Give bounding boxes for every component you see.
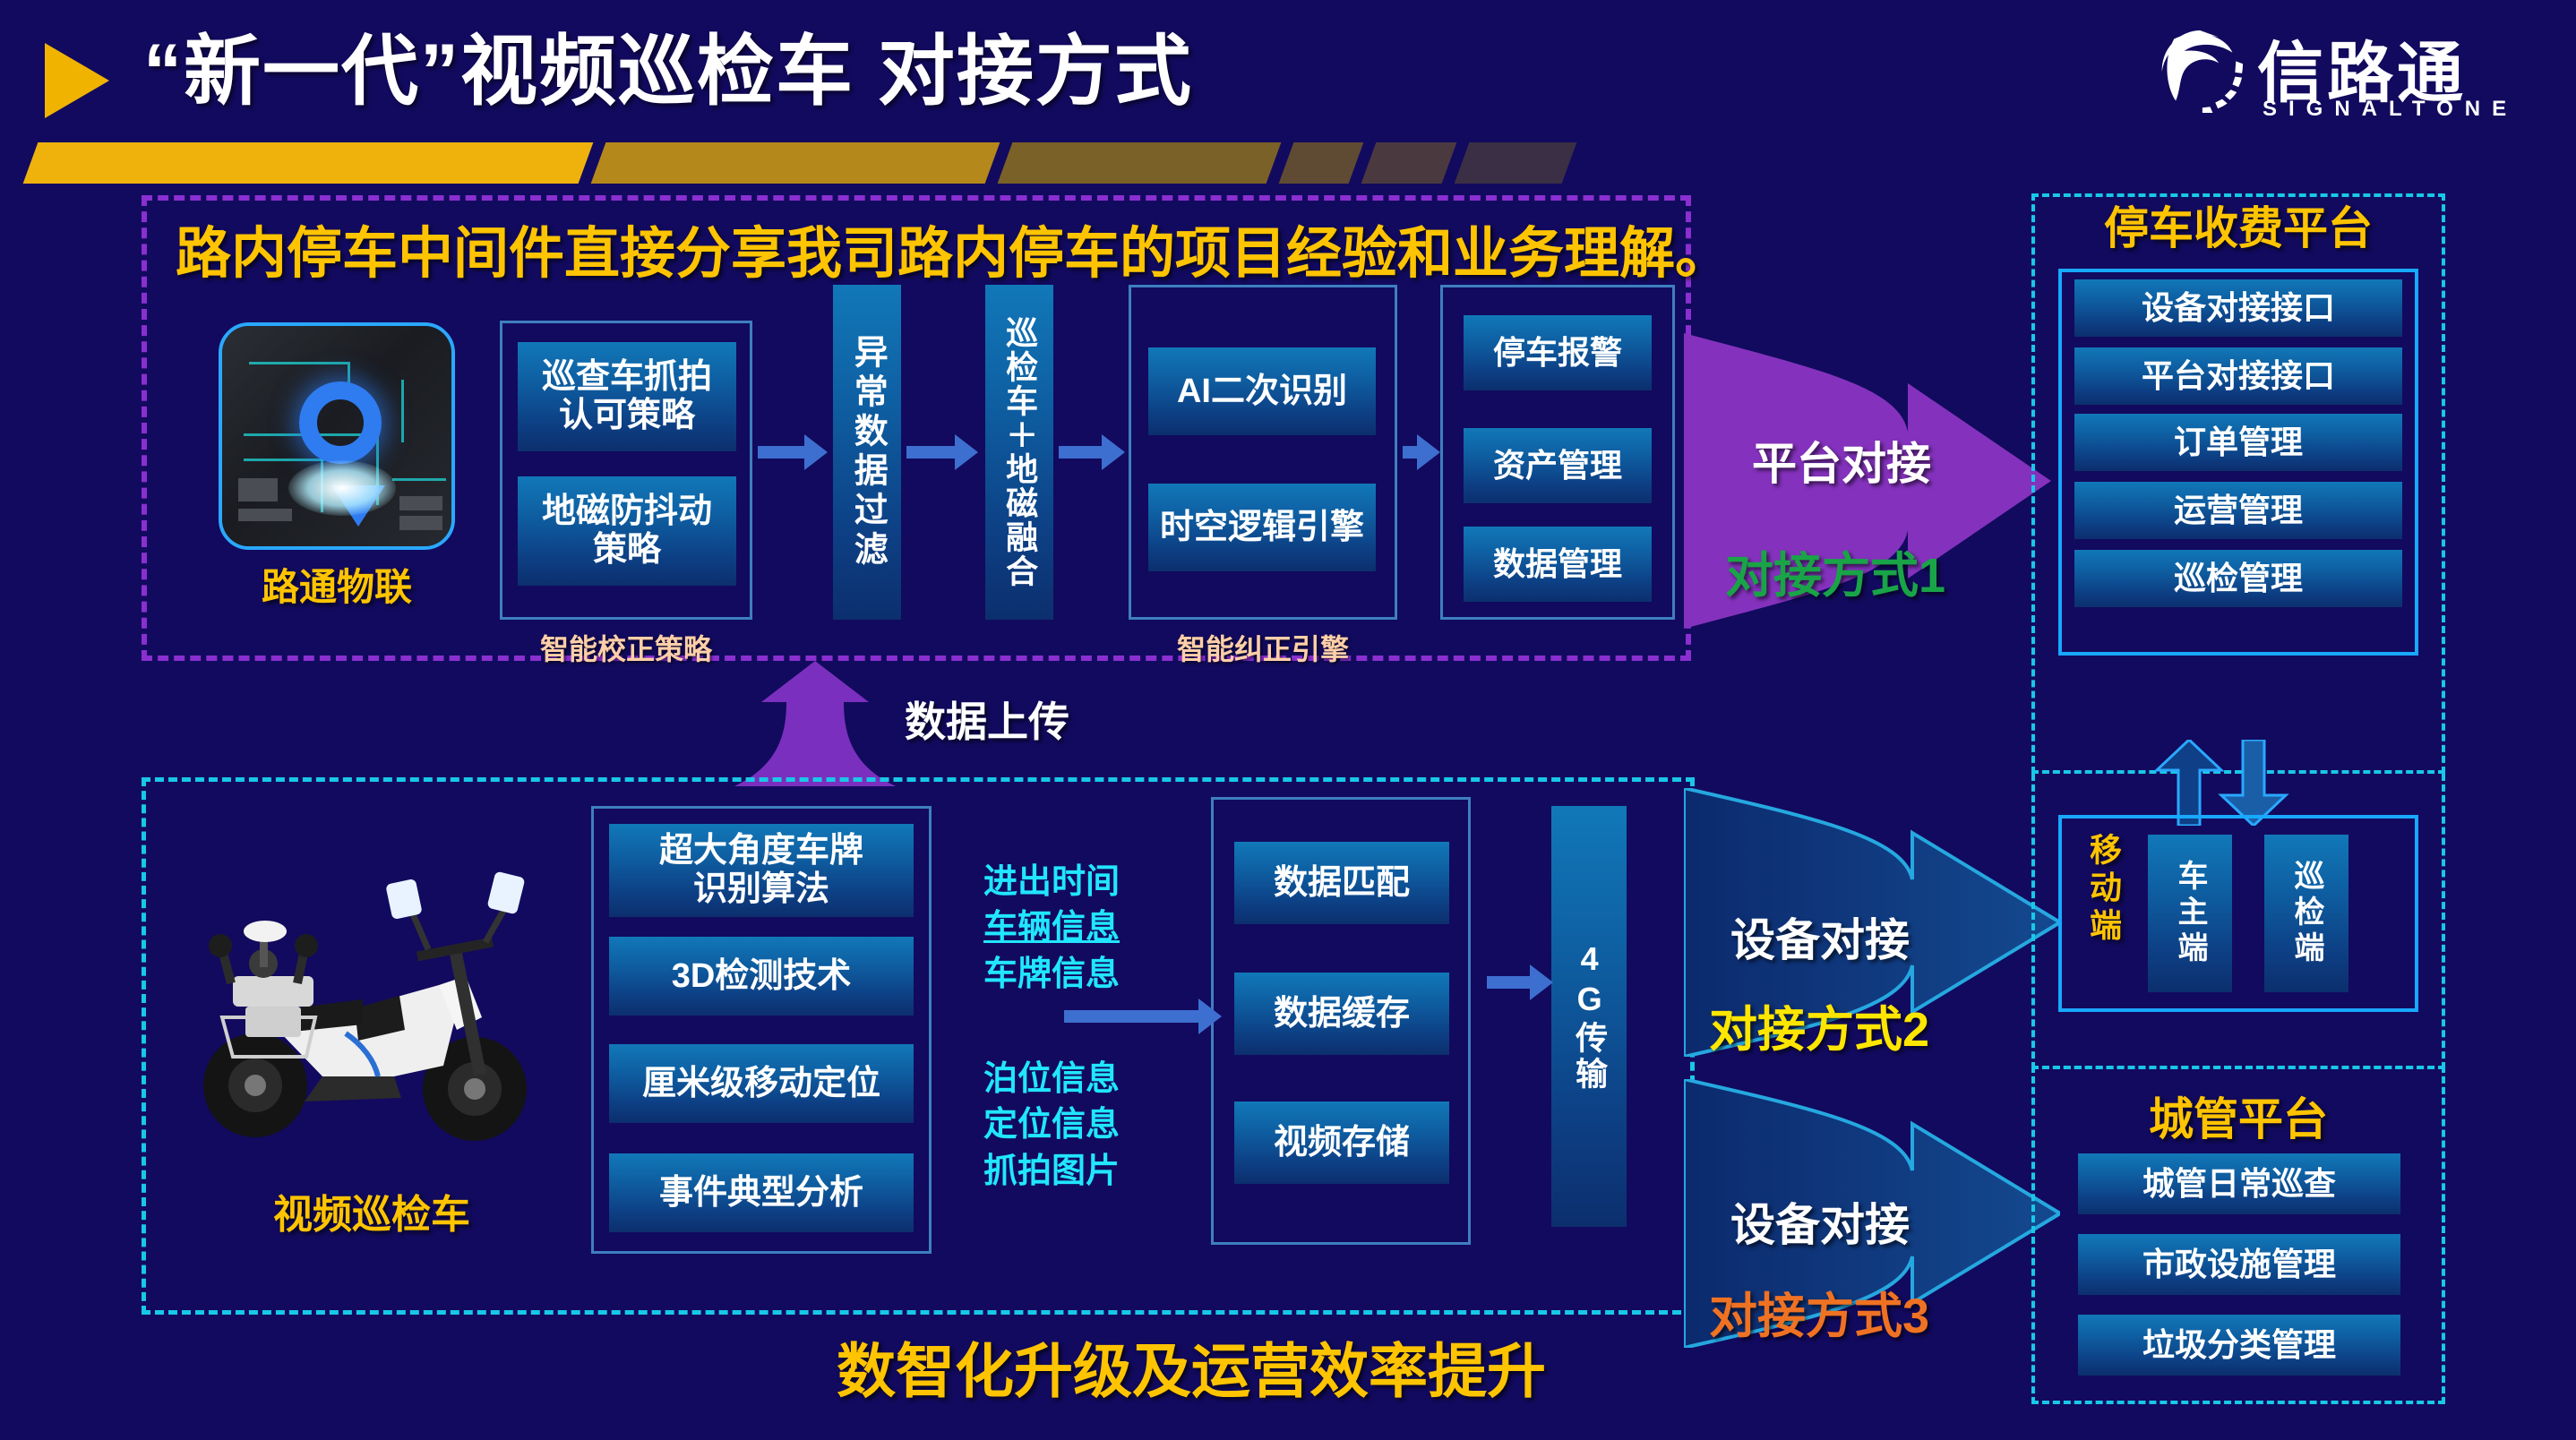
flow-arrow-1-icon bbox=[758, 446, 804, 459]
box-geomagnetic-antishake-policy[interactable]: 地磁防抖动 策略 bbox=[518, 476, 736, 586]
flow-arrow-4-icon bbox=[1403, 446, 1417, 459]
city-item-garbage-classification[interactable]: 垃圾分类管理 bbox=[2078, 1315, 2400, 1376]
mobile-dash-left bbox=[2031, 774, 2035, 1069]
mobile-sync-arrows-icon bbox=[2148, 740, 2309, 826]
box-data-matching[interactable]: 数据匹配 bbox=[1234, 842, 1449, 924]
logo-english-name: SIGNALTONE bbox=[2263, 97, 2518, 122]
iot-device-image bbox=[219, 322, 455, 550]
engine-group-label: 智能纠正引擎 bbox=[1129, 627, 1397, 668]
signaltone-swoosh-icon bbox=[2157, 27, 2243, 113]
footer-title: 数智化升级及运营效率提升 bbox=[699, 1324, 1684, 1410]
play-triangle-icon bbox=[45, 43, 109, 118]
box-parking-alarm[interactable]: 停车报警 bbox=[1464, 315, 1652, 390]
box-data-management[interactable]: 数据管理 bbox=[1464, 527, 1652, 602]
box-patrol-geomagnetic-fusion-label: 巡检车＋地磁融合 bbox=[1001, 316, 1037, 588]
header-stripe-5 bbox=[1361, 142, 1457, 184]
box-wide-angle-plate-recognition[interactable]: 超大角度车牌 识别算法 bbox=[609, 824, 914, 917]
pay-item-device-interface[interactable]: 设备对接接口 bbox=[2074, 279, 2402, 337]
pay-item-operation-management[interactable]: 运营管理 bbox=[2074, 482, 2402, 539]
city-item-daily-patrol[interactable]: 城管日常巡查 bbox=[2078, 1153, 2400, 1214]
box-abnormal-data-filter[interactable]: 异常数据过滤 bbox=[833, 285, 901, 620]
mobile-item-owner-app[interactable]: 车主端 bbox=[2148, 835, 2232, 992]
mobile-item-owner-app-label: 车主端 bbox=[2173, 860, 2207, 967]
box-centimeter-positioning[interactable]: 厘米级移动定位 bbox=[609, 1044, 914, 1123]
header-stripe-3 bbox=[998, 142, 1282, 184]
arrow1-caption: 平台对接 bbox=[1752, 428, 1931, 493]
strategy-group-label: 智能校正策略 bbox=[500, 627, 752, 668]
arrow3-caption: 设备对接 bbox=[1730, 1189, 1910, 1254]
mobile-item-inspector-app-label: 巡检端 bbox=[2289, 860, 2323, 967]
box-4g-transmission-label: 4G传输 bbox=[1571, 940, 1607, 1093]
box-4g-transmission[interactable]: 4G传输 bbox=[1551, 806, 1627, 1227]
pay-item-order-management[interactable]: 订单管理 bbox=[2074, 414, 2402, 471]
middleware-heading: 路内停车中间件直接分享我司路内停车的项目经验和业务理解。 bbox=[176, 208, 1698, 279]
city-platform-title: 城管平台 bbox=[2031, 1084, 2445, 1148]
flow-arrow-3-icon bbox=[1059, 446, 1102, 459]
flow-arrow-2-icon bbox=[906, 446, 955, 459]
upload-label: 数据上传 bbox=[905, 690, 1069, 749]
mobile-label: 移动端 bbox=[2080, 833, 2134, 994]
header-stripe-6 bbox=[1455, 142, 1577, 184]
box-event-analysis[interactable]: 事件典型分析 bbox=[609, 1153, 914, 1232]
header-stripe-1 bbox=[23, 142, 594, 184]
arrow2-caption: 设备对接 bbox=[1730, 904, 1910, 969]
header-stripe-2 bbox=[591, 142, 1000, 184]
box-abnormal-data-filter-label: 异常数据过滤 bbox=[848, 334, 887, 570]
upload-arrow-icon bbox=[734, 661, 896, 786]
box-ai-secondary-recognition[interactable]: AI二次识别 bbox=[1148, 347, 1376, 435]
flow-arrow-5-icon bbox=[1064, 1010, 1198, 1023]
iot-label: 路通物联 bbox=[219, 557, 455, 612]
box-data-cache[interactable]: 数据缓存 bbox=[1234, 973, 1449, 1055]
box-asset-management[interactable]: 资产管理 bbox=[1464, 428, 1652, 503]
arrow1-method: 对接方式1 bbox=[1725, 536, 1945, 606]
box-patrol-geomagnetic-fusion[interactable]: 巡检车＋地磁融合 bbox=[985, 285, 1053, 620]
page-title: “新一代”视频巡检车 对接方式 bbox=[143, 18, 1666, 125]
flow-arrow-6-icon bbox=[1487, 976, 1530, 989]
box-spatiotemporal-logic-engine[interactable]: 时空逻辑引擎 bbox=[1148, 484, 1376, 571]
scooter-label: 视频巡检车 bbox=[170, 1182, 573, 1239]
mobile-dash-right bbox=[2442, 774, 2445, 1069]
inspection-scooter-image bbox=[170, 842, 573, 1164]
pay-platform-title: 停车收费平台 bbox=[2031, 206, 2445, 251]
arrow3-method: 对接方式3 bbox=[1709, 1276, 1929, 1347]
box-3d-detection[interactable]: 3D检测技术 bbox=[609, 937, 914, 1016]
company-logo: 信路通 SIGNALTONE bbox=[2157, 20, 2551, 120]
mobile-label-text: 移动端 bbox=[2080, 833, 2126, 946]
box-patrol-capture-policy[interactable]: 巡查车抓拍 认可策略 bbox=[518, 342, 736, 451]
arrow2-method: 对接方式2 bbox=[1709, 990, 1929, 1060]
pay-item-platform-interface[interactable]: 平台对接接口 bbox=[2074, 347, 2402, 405]
pay-item-inspection-management[interactable]: 巡检管理 bbox=[2074, 550, 2402, 607]
box-video-storage[interactable]: 视频存储 bbox=[1234, 1101, 1449, 1184]
mobile-item-inspector-app[interactable]: 巡检端 bbox=[2264, 835, 2348, 992]
city-item-municipal-facility[interactable]: 市政设施管理 bbox=[2078, 1234, 2400, 1295]
